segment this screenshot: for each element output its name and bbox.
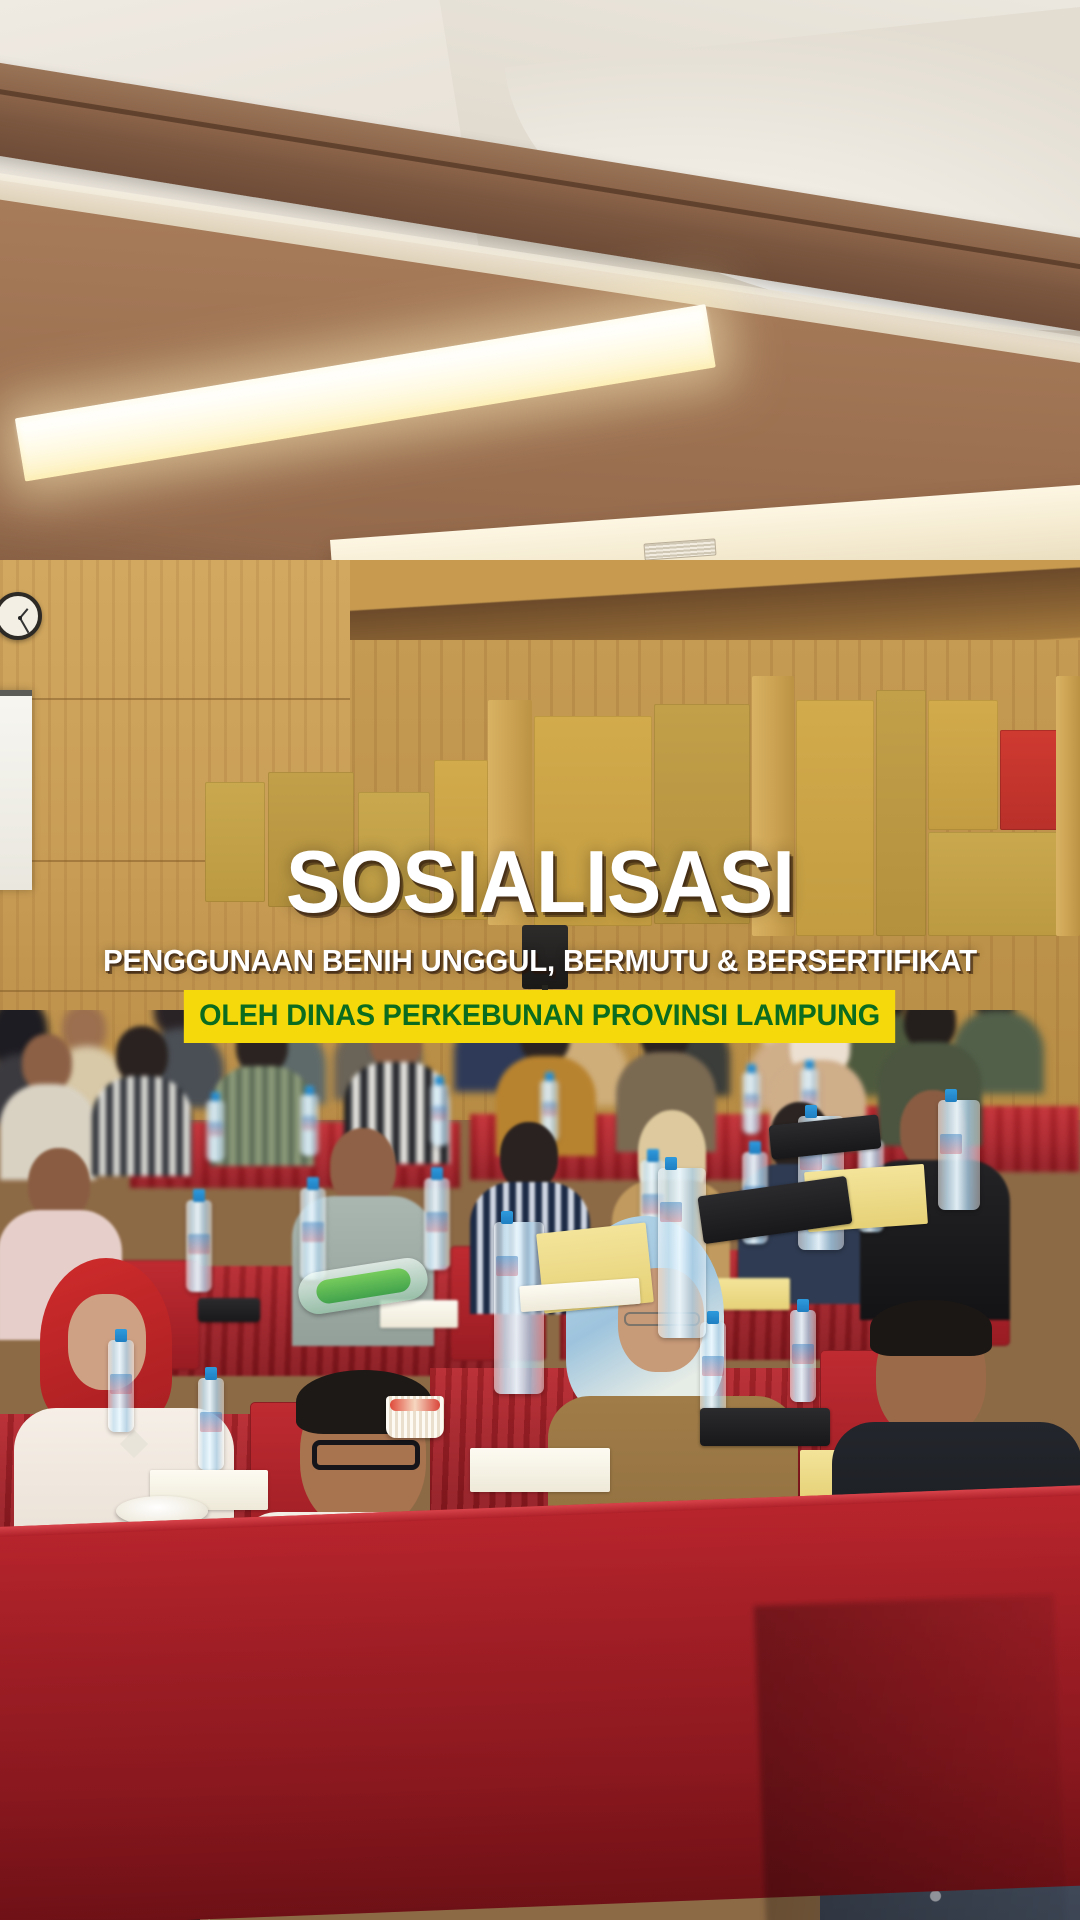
wall-panel xyxy=(268,772,354,907)
loudspeaker xyxy=(522,925,568,989)
wall-column xyxy=(488,700,532,925)
water-bottle xyxy=(938,1100,980,1210)
wall-panel xyxy=(928,700,998,830)
wall-column xyxy=(752,676,794,936)
wall-panel xyxy=(796,700,874,936)
wall-panel xyxy=(358,792,430,910)
foreground-table-fold xyxy=(754,1594,1066,1920)
projection-screen xyxy=(0,690,32,890)
wall-panel xyxy=(534,716,652,926)
wall-panel xyxy=(434,760,488,920)
wall-panel xyxy=(876,690,926,936)
wall-column xyxy=(1056,676,1080,936)
water-bottle xyxy=(658,1168,706,1338)
wall-panel xyxy=(654,704,750,924)
snack-cup xyxy=(386,1396,444,1438)
eyeglasses-icon xyxy=(312,1440,420,1470)
wall-panel xyxy=(205,782,265,902)
video-frame: SOSIALISASI PENGGUNAAN BENIH UNGGUL, BER… xyxy=(0,0,1080,1920)
